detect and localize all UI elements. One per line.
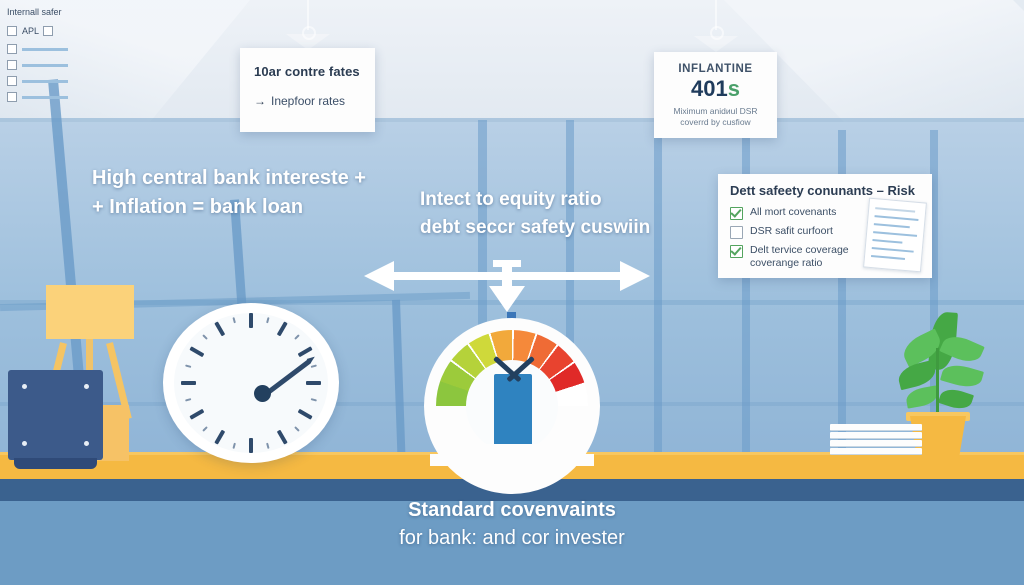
- clock-minute-tick: [294, 426, 300, 432]
- card-hanger-v-right: [694, 36, 738, 52]
- list-item[interactable]: DSR safit curfoort: [730, 225, 850, 239]
- card-inflation-label: INFLANTINE: [654, 63, 777, 75]
- checkbox-icon[interactable]: [7, 76, 17, 86]
- window-band-upper: [0, 118, 1024, 122]
- clock-minute-tick: [266, 443, 269, 449]
- card-covenants[interactable]: Dett safeety conunants – Risk All mort c…: [718, 174, 932, 278]
- card-covenants-heading: Dett safeety conunants – Risk: [730, 183, 915, 198]
- headline-left: High central bank intereste + + Inflatio…: [92, 164, 366, 222]
- briefcase-base: [14, 458, 97, 469]
- document-row[interactable]: [7, 44, 68, 54]
- checkbox-icon[interactable]: [7, 26, 17, 36]
- card-rates[interactable]: 10ar contre fates →Inepfoor rates: [240, 48, 375, 132]
- risk-gauge: [424, 318, 600, 468]
- card-inflation-sub: Miximum anidиul DSR coverrd by cusfiow: [654, 106, 777, 129]
- clock-face: [174, 313, 328, 453]
- clock-minute-tick: [202, 426, 208, 432]
- doc-line: [875, 207, 915, 212]
- headline-center: Intect to equity ratio debt seccr safety…: [420, 186, 650, 241]
- clock-hour-marker: [249, 438, 253, 453]
- checkbox-icon[interactable]: [7, 44, 17, 54]
- doc-line: [874, 215, 918, 221]
- clock-hour-marker: [249, 313, 253, 328]
- clock-minute-tick: [311, 398, 317, 401]
- arrow-head-down: [489, 286, 525, 312]
- checkbox-icon[interactable]: [43, 26, 53, 36]
- document-lines-icon: [863, 198, 927, 273]
- card-inflation-value-main: 401: [691, 76, 728, 101]
- clock-minute-tick: [266, 317, 269, 323]
- paper-sheet: [830, 424, 922, 431]
- page-fold-corner: [1012, 0, 1024, 12]
- arrow-head-right: [620, 261, 650, 291]
- window-mullion-6: [654, 130, 662, 500]
- arrow-right-icon: →: [254, 94, 266, 108]
- card-covenants-list: All mort covenants DSR safit curfoort De…: [730, 206, 850, 275]
- double-headed-arrow: [362, 258, 652, 320]
- document-title: Internall safer: [7, 7, 62, 17]
- clock-hour-marker: [306, 381, 321, 385]
- plant-stem: [936, 348, 939, 418]
- paper-sheet: [830, 448, 922, 455]
- clock-hour-marker: [277, 321, 288, 336]
- document-line: [22, 64, 68, 67]
- checkbox-icon[interactable]: [7, 60, 17, 70]
- briefcase-stud: [22, 384, 27, 389]
- stacked-papers: [830, 424, 922, 458]
- clock-hour-marker: [214, 321, 225, 336]
- briefcase: [8, 370, 103, 460]
- clock-minute-tick: [202, 334, 208, 340]
- doc-line: [872, 247, 914, 253]
- briefcase-stud: [84, 441, 89, 446]
- clock-hour-marker: [214, 430, 225, 445]
- clock-minute-tick: [185, 398, 191, 401]
- checkbox-checked-icon[interactable]: [730, 207, 743, 220]
- document-line: [22, 80, 68, 83]
- card-inflation-value: 401s: [654, 78, 777, 100]
- clock-minute-tick: [311, 364, 317, 367]
- clock-minute-tick: [294, 334, 300, 340]
- list-item[interactable]: All mort covenants: [730, 206, 850, 220]
- headline-center-line2: debt seccr safety cuswiin: [420, 214, 650, 242]
- clock-hour-marker: [277, 430, 288, 445]
- list-item-label: Delt tervice coverage coverange ratio: [750, 244, 850, 270]
- banner-line1: Standard covenvaints: [0, 496, 1024, 524]
- clock-minute-tick: [185, 364, 191, 367]
- clock-hour-marker: [181, 381, 196, 385]
- card-rates-subtitle-text: Inepfoor rates: [271, 94, 345, 108]
- plant-leaf: [938, 385, 974, 412]
- infographic-scene: High central bank intereste + + Inflatio…: [0, 0, 1024, 585]
- card-inflation-sub-line2: coverrd by cusfiow: [660, 117, 771, 128]
- clock-hour-marker: [298, 409, 313, 420]
- card-inflation[interactable]: INFLANTINE 401s Miximum anidиul DSR cove…: [654, 52, 777, 138]
- doc-line: [871, 255, 905, 260]
- paper-sheet: [830, 440, 922, 447]
- lamp-shade: [46, 285, 134, 339]
- document-row[interactable]: APL: [7, 26, 58, 36]
- arrow-head-left: [364, 261, 394, 291]
- clock-hour-marker: [189, 409, 204, 420]
- doc-line: [873, 231, 917, 237]
- paper-sheet: [830, 432, 922, 439]
- card-rates-subtitle: →Inepfoor rates: [254, 94, 345, 108]
- clock-hub: [254, 385, 271, 402]
- list-item[interactable]: Delt tervice coverage coverange ratio: [730, 244, 850, 270]
- list-item-label: All mort covenants: [750, 206, 836, 219]
- briefcase-stud: [84, 384, 89, 389]
- checkbox-unchecked-icon[interactable]: [730, 226, 743, 239]
- headline-left-line2: + Inflation = bank loan: [92, 193, 366, 222]
- clock-minute-tick: [232, 443, 235, 449]
- banner-line2: for bank: and cor investеr: [0, 524, 1024, 552]
- document-row[interactable]: [7, 92, 68, 102]
- headline-center-line1: Intect to equity ratio: [420, 186, 650, 214]
- checkbox-checked-icon[interactable]: [730, 245, 743, 258]
- doc-line: [874, 223, 910, 228]
- checkbox-icon[interactable]: [7, 92, 17, 102]
- clock-minute-tick: [232, 317, 235, 323]
- card-inflation-value-suffix: s: [728, 76, 740, 101]
- briefcase-stud: [22, 441, 27, 446]
- wall-clock: [163, 303, 343, 468]
- document-row-label: APL: [22, 26, 39, 36]
- gauge-base-lower: [430, 454, 594, 466]
- document-row[interactable]: [7, 60, 68, 70]
- document-row[interactable]: [7, 76, 68, 86]
- list-item-label: DSR safit curfoort: [750, 225, 833, 238]
- card-rates-title: 10ar contre fates: [254, 64, 360, 79]
- headline-left-line1: High central bank intereste +: [92, 164, 366, 193]
- clock-hour-marker: [189, 346, 204, 357]
- doc-line: [872, 239, 902, 244]
- plant-leaf: [905, 385, 940, 408]
- document-line: [22, 96, 68, 99]
- document-line: [22, 48, 68, 51]
- bottom-banner: Standard covenvaints for bank: and cor i…: [0, 496, 1024, 553]
- card-inflation-sub-line1: Miximum anidиul DSR: [660, 106, 771, 117]
